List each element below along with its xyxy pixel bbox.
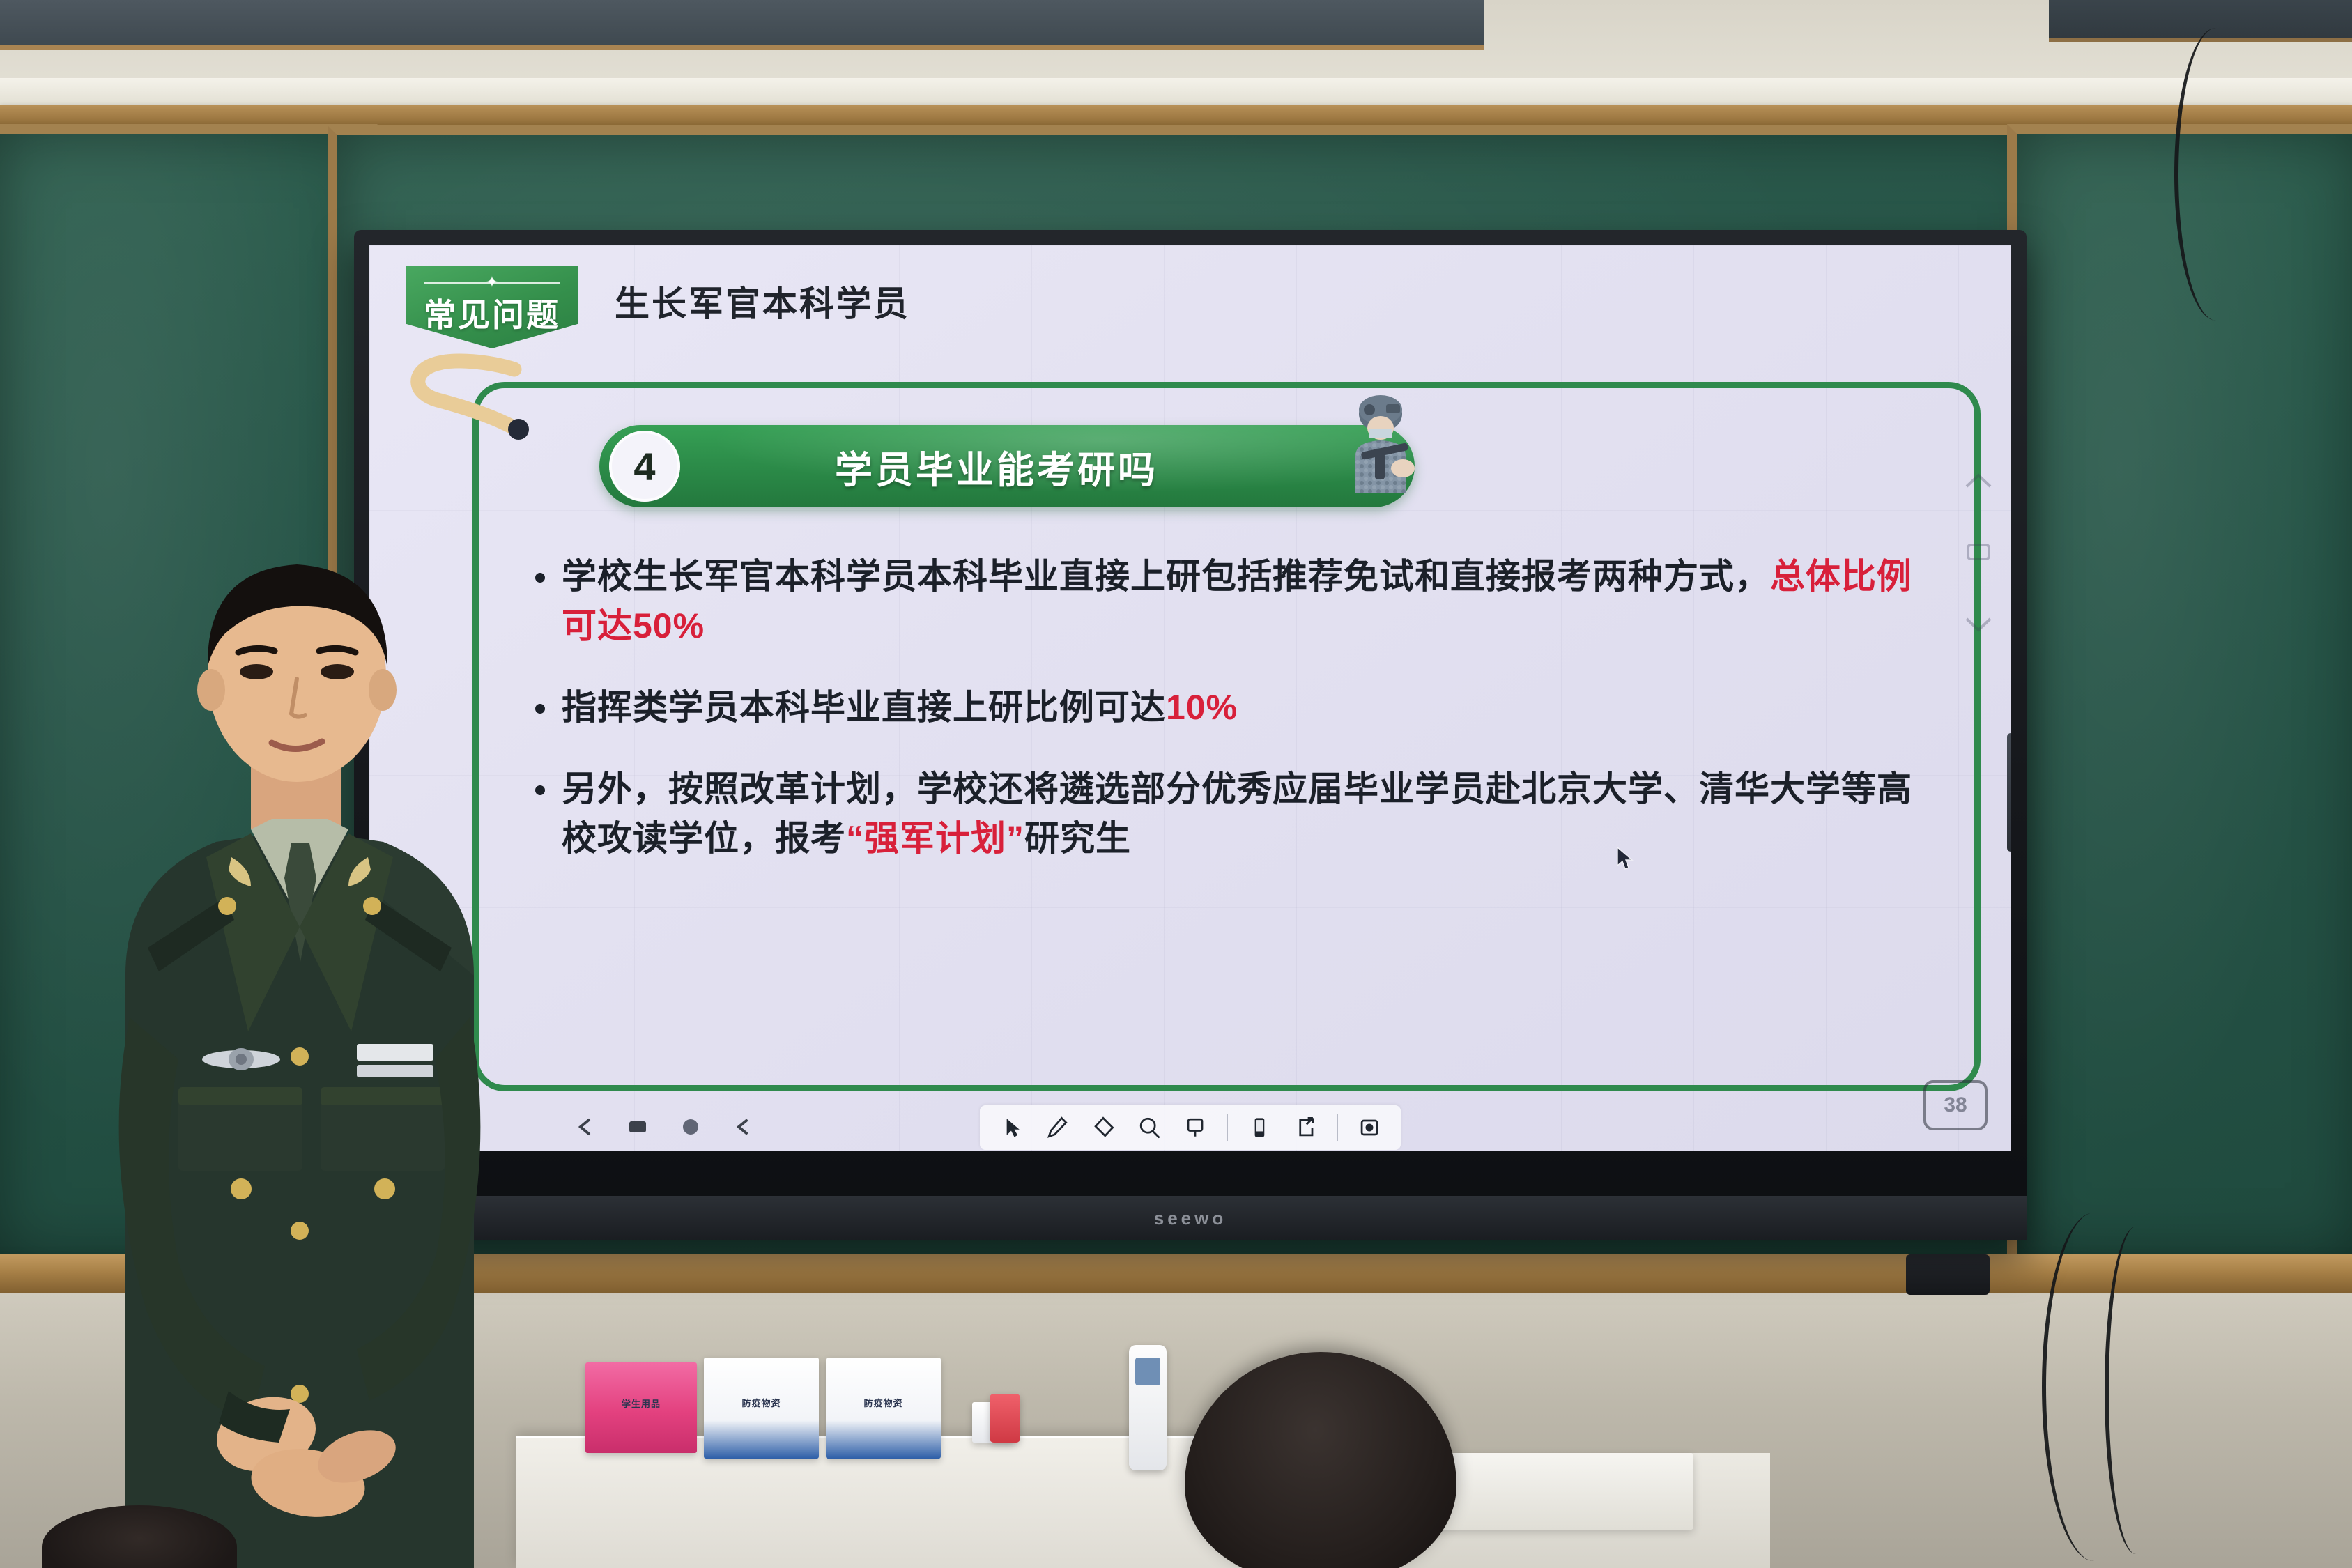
pink-box: 学生用品 <box>585 1362 697 1453</box>
white-box-2-label: 防疫物资 <box>835 1396 932 1409</box>
pencil-hook-icon <box>410 350 542 440</box>
spotlight-icon[interactable] <box>1174 1109 1217 1146</box>
share-icon[interactable] <box>1284 1109 1327 1146</box>
slide-side-controls[interactable] <box>1955 466 2001 638</box>
slide-toolbar-left[interactable] <box>556 1107 772 1147</box>
home-icon[interactable] <box>675 1113 707 1141</box>
prev-icon[interactable] <box>728 1113 760 1141</box>
toolbar-divider <box>1227 1114 1228 1141</box>
eraser-icon[interactable] <box>1082 1109 1125 1146</box>
faq-badge-label: 常见问题 <box>424 290 560 336</box>
wall-panel-left <box>0 0 1484 50</box>
display-screen[interactable]: ✦ 常见问题 生长军官本科学员 4 学员毕业能考研 <box>369 245 2011 1151</box>
cursor-icon[interactable] <box>990 1109 1033 1146</box>
question-number: 4 <box>609 431 680 502</box>
presentation-slide: ✦ 常见问题 生长军官本科学员 4 学员毕业能考研 <box>369 245 2011 1151</box>
bullet-item: 另外，按照改革计划，学校还将遴选部分优秀应届毕业学员赴北京大学、清华大学等高校攻… <box>535 764 1928 863</box>
bullet-text: 指挥类学员本科毕业直接上研比例可达10% <box>562 683 1238 732</box>
highlight-text: 10% <box>1166 688 1238 727</box>
white-box-2: 防疫物资 <box>826 1358 941 1459</box>
cable-box <box>1906 1254 1990 1295</box>
cable-3 <box>2105 1227 2167 1554</box>
ceiling-strip <box>0 78 2352 105</box>
body-text: 另外，按照改革计划，学校还将遴选部分优秀应届毕业学员赴北京大学、清华大学等高校攻… <box>562 769 1912 858</box>
soldier-illustration-icon <box>1335 389 1427 493</box>
body-text: 学校生长军官本科学员本科毕业直接上研包括推荐免试和直接报考两种方式， <box>562 557 1770 596</box>
mobile-icon[interactable] <box>1238 1109 1281 1146</box>
bullet-text: 学校生长军官本科学员本科毕业直接上研包括推荐免试和直接报考两种方式，总体比例可达… <box>562 552 1928 651</box>
classroom-scene: ✦ 常见问题 生长军官本科学员 4 学员毕业能考研 <box>0 0 2352 1568</box>
body-text: 研究生 <box>1024 819 1131 858</box>
highlight-text: “强军计划” <box>846 819 1024 858</box>
question-title-bar: 4 学员毕业能考研吗 <box>599 425 1415 507</box>
panel-chin: seewo <box>354 1196 2027 1240</box>
thermometer-screen <box>1135 1358 1160 1385</box>
bullet-item: 指挥类学员本科毕业直接上研比例可达10% <box>535 683 1928 732</box>
slide-toolbar-center[interactable] <box>980 1105 1401 1150</box>
chevron-up-icon[interactable] <box>1960 466 1997 496</box>
chevron-down-icon[interactable] <box>1960 608 1997 638</box>
back-icon[interactable] <box>569 1113 601 1141</box>
device-brand-label: seewo <box>1154 1208 1227 1229</box>
page-number-chip: 38 <box>1923 1080 1988 1130</box>
pen-icon[interactable] <box>1036 1109 1079 1146</box>
cable-1 <box>2174 28 2258 321</box>
page-title: 生长军官本科学员 <box>615 276 910 326</box>
star-icon: ✦ <box>486 275 498 290</box>
mouse-cursor-icon <box>1615 846 1636 873</box>
interactive-flat-panel: ✦ 常见问题 生长军官本科学员 4 学员毕业能考研 <box>354 230 2027 1240</box>
chalkboard-right <box>2007 124 2352 1267</box>
white-box-1: 防疫物资 <box>704 1358 819 1459</box>
capture-icon[interactable] <box>1348 1109 1391 1146</box>
magnifier-icon[interactable] <box>1128 1109 1171 1146</box>
toolbar-divider-2 <box>1337 1114 1338 1141</box>
thermometer-device <box>1129 1345 1167 1470</box>
body-text: 指挥类学员本科毕业直接上研比例可达 <box>562 688 1166 727</box>
panel-icon[interactable] <box>1960 537 1997 567</box>
wall-panel-right <box>2049 0 2352 42</box>
presenter-officer <box>42 530 558 1568</box>
red-marker <box>990 1394 1020 1443</box>
panel-side-indicator <box>2007 733 2011 852</box>
bullet-item: 学校生长军官本科学员本科毕业直接上研包括推荐免试和直接报考两种方式，总体比例可达… <box>535 552 1928 651</box>
bullet-list: 学校生长军官本科学员本科毕业直接上研包括推荐免试和直接报考两种方式，总体比例可达… <box>535 552 1928 896</box>
slides-icon[interactable] <box>622 1113 654 1141</box>
bullet-text: 另外，按照改革计划，学校还将遴选部分优秀应届毕业学员赴北京大学、清华大学等高校攻… <box>562 764 1928 863</box>
pink-box-label: 学生用品 <box>594 1397 688 1410</box>
white-box-1-label: 防疫物资 <box>713 1396 810 1409</box>
question-title-label: 学员毕业能考研吗 <box>599 439 1415 494</box>
